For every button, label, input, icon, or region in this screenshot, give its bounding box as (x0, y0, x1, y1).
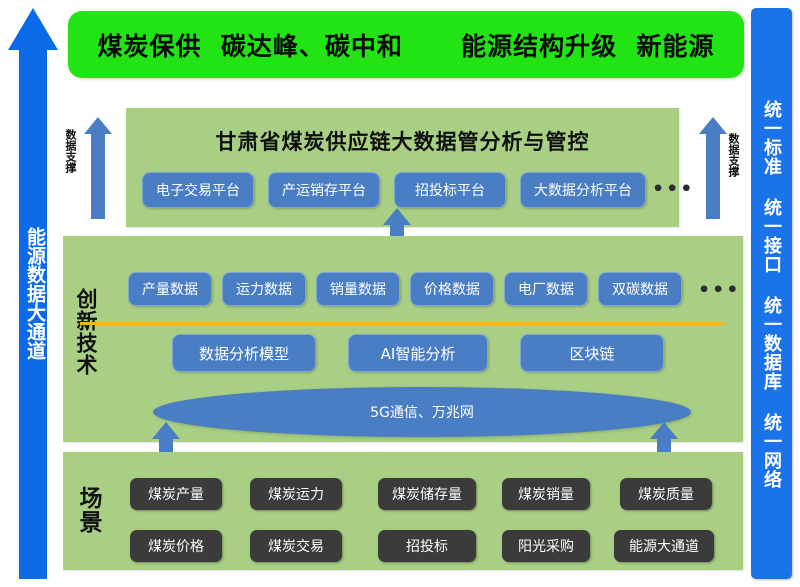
data-support-label-right: 数据支撑 (727, 133, 740, 199)
scene-button-coal-sales[interactable]: 煤炭销量 (502, 478, 590, 510)
scene-button-energy-channel[interactable]: 能源大通道 (614, 530, 714, 562)
scene-button-coal-price[interactable]: 煤炭价格 (130, 530, 222, 562)
data-support-label-left: 数据支撑 (64, 129, 77, 195)
tech-chip-data-model[interactable]: 数据分析模型 (172, 334, 316, 372)
platform-ellipsis-icon: ••• (652, 180, 694, 199)
unified-standards-bar: 统一标准 统一接口 统一数据库 统一网络 (751, 8, 792, 579)
scene-button-coal-transport[interactable]: 煤炭运力 (250, 478, 342, 510)
data-ellipsis-icon: ••• (698, 281, 740, 300)
platform-chip-e-trading[interactable]: 电子交易平台 (142, 172, 254, 208)
scene-button-coal-trading[interactable]: 煤炭交易 (250, 530, 342, 562)
data-chip-price[interactable]: 价格数据 (410, 272, 494, 306)
network-label: 5G通信、万兆网 (370, 402, 474, 422)
arrow-shaft (91, 133, 105, 219)
data-chip-dual-carbon[interactable]: 双碳数据 (598, 272, 682, 306)
up-arrow-icon (650, 422, 678, 439)
scene-button-bidding[interactable]: 招投标 (378, 530, 476, 562)
data-chip-capacity[interactable]: 运力数据 (222, 272, 306, 306)
scene-button-coal-output[interactable]: 煤炭产量 (130, 478, 222, 510)
unified-standards-label: 统一标准 统一接口 统一数据库 统一网络 (751, 16, 792, 572)
up-arrow-icon (383, 208, 411, 225)
scene-button-coal-storage[interactable]: 煤炭储存量 (378, 478, 476, 510)
scene-button-sunshine-procurement[interactable]: 阳光采购 (502, 530, 590, 562)
tech-chip-ai-analysis[interactable]: AI智能分析 (348, 334, 488, 372)
platform-panel-title: 甘肃省煤炭供应链大数据管分析与管控 (126, 126, 679, 156)
energy-data-channel-arrow: 能源数据大通道 (8, 8, 58, 579)
up-arrow-icon (152, 422, 180, 439)
platform-chip-big-data-analysis[interactable]: 大数据分析平台 (520, 172, 646, 208)
platform-chip-production-transport-sales[interactable]: 产运销存平台 (268, 172, 380, 208)
data-chip-output[interactable]: 产量数据 (128, 272, 212, 306)
network-ellipse: 5G通信、万兆网 (153, 387, 691, 437)
up-arrow-icon (84, 117, 112, 134)
scenario-label: 场景 (72, 475, 104, 545)
platform-chip-bidding[interactable]: 招投标平台 (394, 172, 506, 208)
data-chip-power-plant[interactable]: 电厂数据 (504, 272, 588, 306)
arrow-shaft (706, 133, 720, 219)
tech-chip-blockchain[interactable]: 区块链 (520, 334, 664, 372)
up-arrow-icon (699, 117, 727, 134)
energy-data-channel-label: 能源数据大通道 (19, 198, 47, 388)
data-chip-sales[interactable]: 销量数据 (316, 272, 400, 306)
policy-banner-text: 煤炭保供 碳达峰、碳中和 能源结构升级 新能源 (97, 27, 714, 63)
policy-banner: 煤炭保供 碳达峰、碳中和 能源结构升级 新能源 (68, 11, 744, 78)
section-divider (80, 322, 726, 325)
diagram-canvas: 能源数据大通道 统一标准 统一接口 统一数据库 统一网络 煤炭保供 碳达峰、碳中… (0, 0, 800, 587)
scene-button-coal-quality[interactable]: 煤炭质量 (620, 478, 712, 510)
innovation-tech-label: 创新技术 (72, 272, 99, 392)
up-arrow-icon (8, 8, 58, 50)
